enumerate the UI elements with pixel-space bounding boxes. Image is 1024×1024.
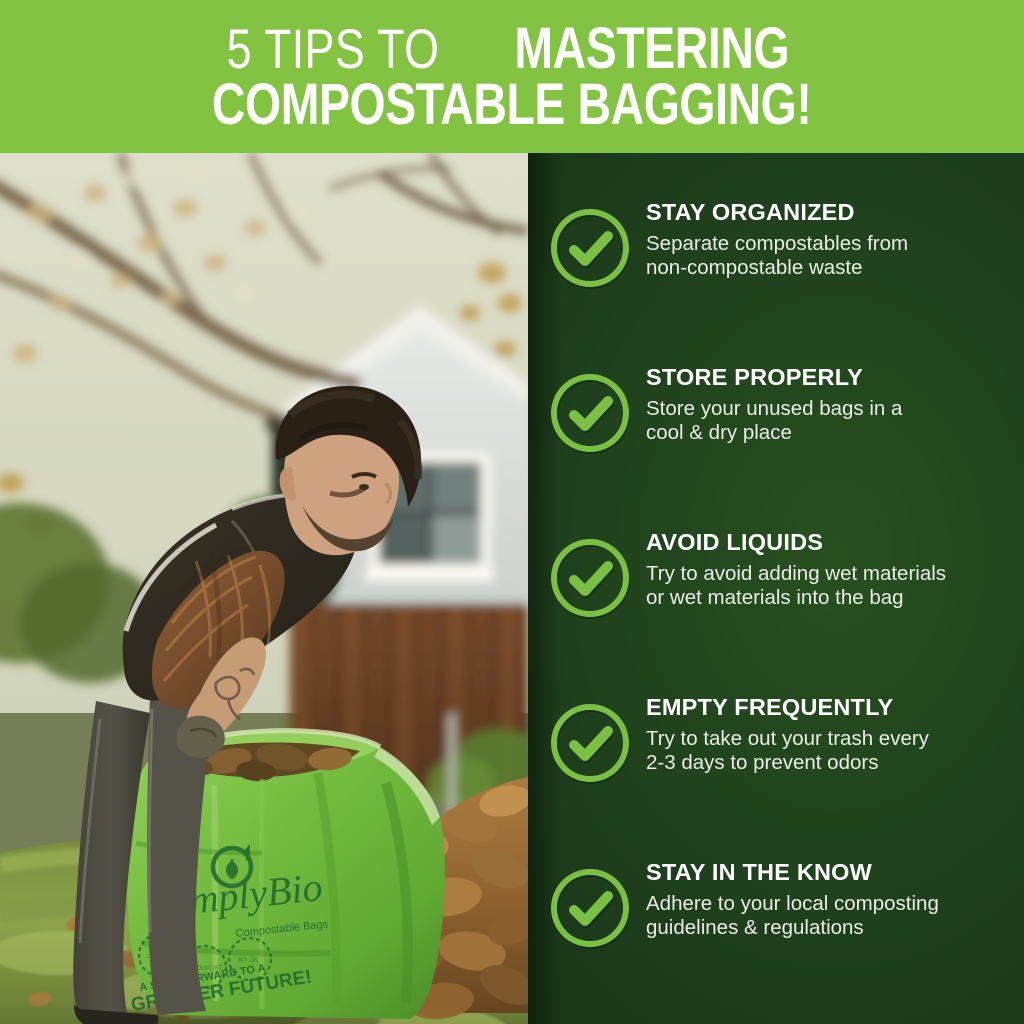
- page-title-line-2: COMPOSTABLE BAGGING!: [212, 78, 811, 131]
- tip-item-3: AVOID LIQUIDS Try to avoid adding wet ma…: [550, 530, 1020, 620]
- tip-heading: EMPTY FREQUENTLY: [646, 695, 1020, 720]
- tip-heading: STAY IN THE KNOW: [646, 860, 1020, 885]
- title-bold-text: MASTERING: [515, 22, 790, 75]
- tip-body-line-1: Separate compostables from: [646, 232, 1020, 257]
- tip-body-line-1: Try to avoid adding wet materials: [646, 562, 1020, 587]
- tip-item-1: STAY ORGANIZED Separate compostables fro…: [550, 200, 1020, 290]
- tip-body: Adhere to your local composting guidelin…: [646, 892, 1020, 941]
- tip-text-block: STAY ORGANIZED Separate compostables fro…: [646, 200, 1020, 281]
- tip-body-line-2: 2-3 days to prevent odors: [646, 751, 1020, 776]
- hero-photo-illustration: SimplyBio Compostable Bags CERTIFIED COM…: [0, 153, 528, 1024]
- hero-photo: SimplyBio Compostable Bags CERTIFIED COM…: [0, 153, 528, 1024]
- tip-text-block: STAY IN THE KNOW Adhere to your local co…: [646, 860, 1020, 941]
- tip-body: Try to take out your trash every 2-3 day…: [646, 727, 1020, 776]
- tip-body: Try to avoid adding wet materials or wet…: [646, 562, 1020, 611]
- tip-item-4: EMPTY FREQUENTLY Try to take out your tr…: [550, 695, 1020, 785]
- tip-text-block: AVOID LIQUIDS Try to avoid adding wet ma…: [646, 530, 1020, 611]
- tip-body-line-1: Try to take out your trash every: [646, 727, 1020, 752]
- tip-heading: STORE PROPERLY: [646, 365, 1020, 390]
- tip-body-line-1: Adhere to your local composting: [646, 892, 1020, 917]
- check-circle-icon: [550, 868, 632, 950]
- tip-heading: AVOID LIQUIDS: [646, 530, 1020, 555]
- tip-body-line-2: non-compostable waste: [646, 256, 1020, 281]
- tip-body: Separate compostables from non-compostab…: [646, 232, 1020, 281]
- tip-heading: STAY ORGANIZED: [646, 200, 1020, 225]
- check-circle-icon: [550, 703, 632, 785]
- tip-item-2: STORE PROPERLY Store your unused bags in…: [550, 365, 1020, 455]
- tip-body-line-2: or wet materials into the bag: [646, 586, 1020, 611]
- page-title-line-1: 5 TIPS TO MASTERING: [200, 22, 823, 75]
- tip-item-5: STAY IN THE KNOW Adhere to your local co…: [550, 860, 1020, 950]
- tip-body: Store your unused bags in a cool & dry p…: [646, 397, 1020, 446]
- tip-body-line-1: Store your unused bags in a: [646, 397, 1020, 422]
- tip-body-line-2: guidelines & regulations: [646, 916, 1020, 941]
- infographic-root: 5 TIPS TO MASTERING COMPOSTABLE BAGGING!: [0, 0, 1024, 1024]
- tip-text-block: STORE PROPERLY Store your unused bags in…: [646, 365, 1020, 446]
- check-circle-icon: [550, 373, 632, 455]
- check-circle-icon: [550, 538, 632, 620]
- check-circle-icon: [550, 208, 632, 290]
- tip-body-line-2: cool & dry place: [646, 421, 1020, 446]
- tips-panel: STAY ORGANIZED Separate compostables fro…: [528, 153, 1024, 1024]
- header-banner: 5 TIPS TO MASTERING COMPOSTABLE BAGGING!: [0, 0, 1024, 153]
- tip-text-block: EMPTY FREQUENTLY Try to take out your tr…: [646, 695, 1020, 776]
- title-thin-text: 5 TIPS TO: [227, 23, 440, 75]
